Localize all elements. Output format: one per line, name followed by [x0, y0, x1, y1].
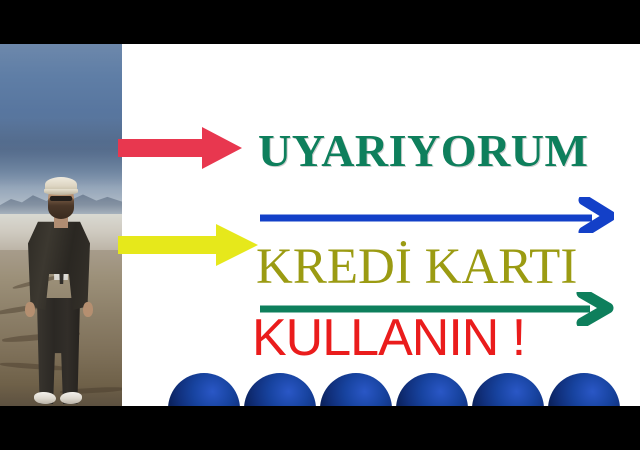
- blue-sphere: [168, 373, 240, 406]
- thumbnail-canvas: UYARIYORUM KREDİ KARTI KULLANIN !: [0, 44, 640, 406]
- headline-line-2: KREDİ KARTI: [256, 242, 577, 293]
- sphere-row: [168, 373, 618, 406]
- blue-sphere: [472, 373, 544, 406]
- person-shoe-right: [60, 392, 82, 404]
- person-cap-brim: [44, 189, 78, 195]
- person-photo: [0, 44, 122, 406]
- blue-sphere: [244, 373, 316, 406]
- blue-arrow-right-icon: [258, 197, 614, 233]
- red-arrow-right-icon: [118, 127, 242, 169]
- blue-sphere: [396, 373, 468, 406]
- letterbox-bar-top: [0, 0, 640, 44]
- blue-sphere: [320, 373, 392, 406]
- yellow-arrow-right-icon: [118, 224, 258, 266]
- headline-line-3: KULLANIN !: [252, 312, 525, 364]
- headline-line-1: UYARIYORUM: [258, 128, 588, 174]
- person-shoe-left: [34, 392, 56, 404]
- sunglasses-icon: [50, 196, 72, 201]
- letterbox-bar-bottom: [0, 406, 640, 450]
- person-hand-right: [83, 302, 93, 317]
- person-hand-left: [25, 302, 35, 317]
- blue-sphere: [548, 373, 620, 406]
- thumbnail-root: UYARIYORUM KREDİ KARTI KULLANIN !: [0, 0, 640, 450]
